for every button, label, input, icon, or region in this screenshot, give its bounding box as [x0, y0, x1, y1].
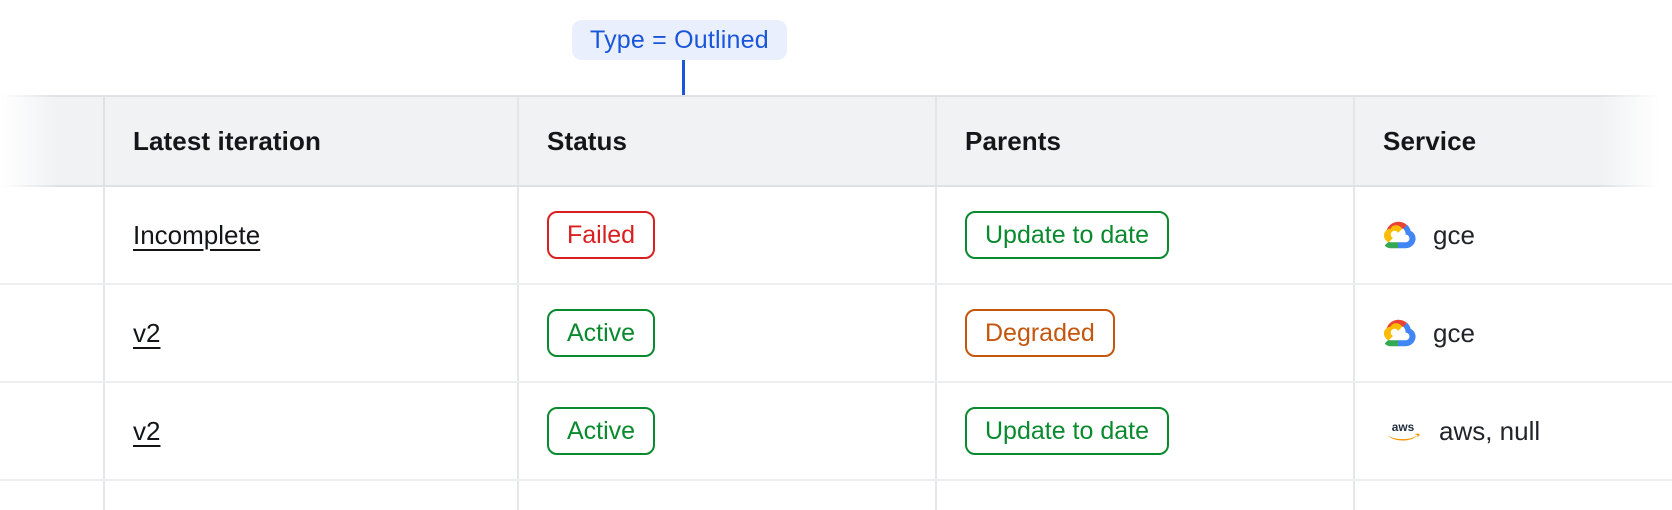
- aws-icon: aws: [1383, 414, 1423, 448]
- cell-parents: Update to date: [937, 187, 1355, 283]
- row-gutter-cell: [0, 383, 105, 479]
- latest-iteration-link[interactable]: v2: [133, 318, 160, 349]
- parents-badge[interactable]: Degraded: [965, 309, 1115, 357]
- cell-service: gce: [1355, 187, 1672, 283]
- service-label: gce: [1433, 318, 1475, 349]
- latest-iteration-link[interactable]: Incomplete: [133, 220, 260, 251]
- cell-latest-iteration: v2: [105, 285, 519, 381]
- header-cell-latest-iteration[interactable]: Latest iteration: [105, 97, 519, 185]
- cell-latest-iteration: Incomplete: [105, 187, 519, 283]
- cell-latest-iteration: [105, 481, 519, 510]
- service-label: aws, null: [1439, 416, 1540, 447]
- cell-parents: Update to date: [937, 383, 1355, 479]
- row-gutter-cell: [0, 285, 105, 381]
- row-gutter-cell: [0, 187, 105, 283]
- annotation-badge-label: Type = Outlined: [590, 26, 769, 55]
- cell-status: Active: [519, 383, 937, 479]
- header-label-parents: Parents: [965, 126, 1061, 157]
- cell-status: [519, 481, 937, 510]
- status-badge[interactable]: Failed: [547, 211, 655, 259]
- cell-service: [1355, 481, 1672, 510]
- cell-parents: Degraded: [937, 285, 1355, 381]
- cell-status: Active: [519, 285, 937, 381]
- header-cell-service[interactable]: Service: [1355, 97, 1672, 185]
- cell-latest-iteration: v2: [105, 383, 519, 479]
- table-row[interactable]: Incomplete Failed Update to date gce: [0, 187, 1672, 285]
- screenshot-root: Type = Outlined Latest iteration Status …: [0, 0, 1672, 510]
- google-cloud-icon: [1383, 316, 1417, 350]
- table-header-row: Latest iteration Status Parents Service: [0, 95, 1672, 187]
- annotation-badge: Type = Outlined: [572, 20, 787, 60]
- svg-text:aws: aws: [1392, 420, 1415, 434]
- header-label-latest-iteration: Latest iteration: [133, 126, 321, 157]
- header-label-service: Service: [1383, 126, 1476, 157]
- service-label: gce: [1433, 220, 1475, 251]
- status-badge[interactable]: Active: [547, 407, 655, 455]
- header-cell-gutter: [0, 97, 105, 185]
- status-badge[interactable]: Active: [547, 309, 655, 357]
- data-table: Latest iteration Status Parents Service …: [0, 95, 1672, 510]
- cell-service: aws aws, null: [1355, 383, 1672, 479]
- table-row[interactable]: [0, 481, 1672, 510]
- table-row[interactable]: v2 Active Degraded gce: [0, 285, 1672, 383]
- cell-service: gce: [1355, 285, 1672, 381]
- parents-badge[interactable]: Update to date: [965, 211, 1169, 259]
- row-gutter-cell: [0, 481, 105, 510]
- google-cloud-icon: [1383, 218, 1417, 252]
- header-cell-status[interactable]: Status: [519, 97, 937, 185]
- parents-badge[interactable]: Update to date: [965, 407, 1169, 455]
- latest-iteration-link[interactable]: v2: [133, 416, 160, 447]
- header-cell-parents[interactable]: Parents: [937, 97, 1355, 185]
- cell-parents: [937, 481, 1355, 510]
- table-row[interactable]: v2 Active Update to date aws aws, null: [0, 383, 1672, 481]
- cell-status: Failed: [519, 187, 937, 283]
- header-label-status: Status: [547, 126, 627, 157]
